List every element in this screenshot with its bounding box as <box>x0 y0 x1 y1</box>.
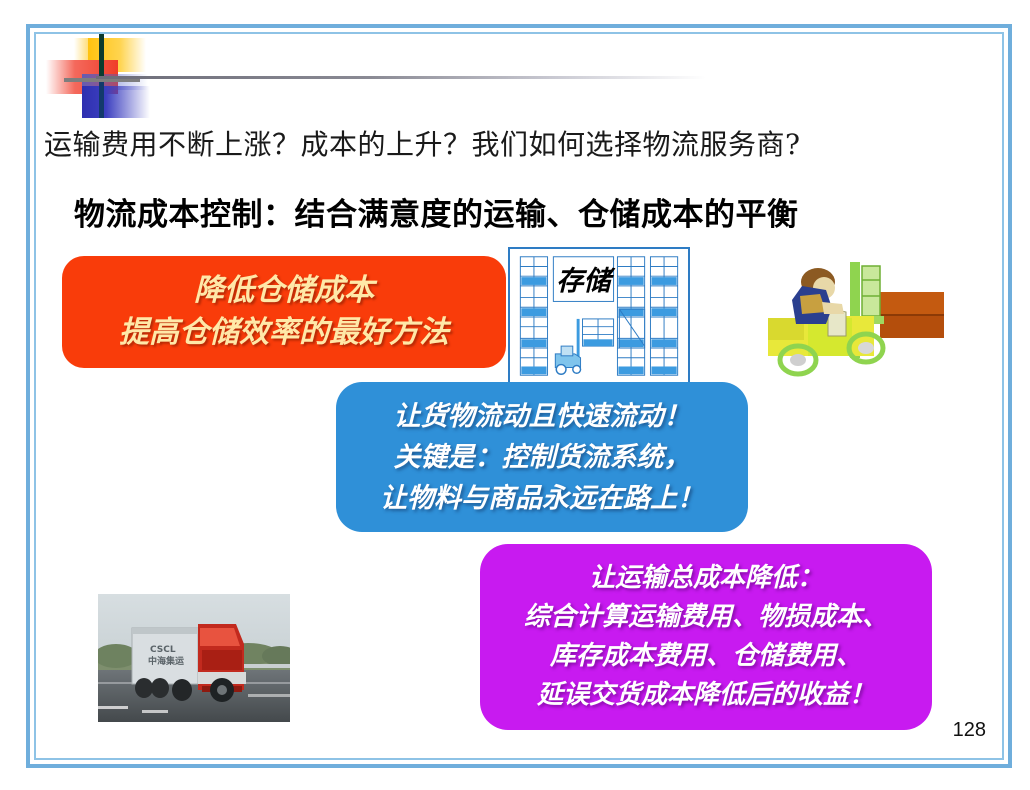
callout-magenta-line-3: 库存成本费用、仓储费用、 <box>550 637 862 676</box>
svg-text:中海集运: 中海集运 <box>148 655 185 667</box>
callout-orange: 降低仓储成本 提高仓储效率的最好方法 <box>62 256 506 368</box>
highway-truck-image: CSCL 中海集运 <box>98 594 290 722</box>
warehouse-racks-icon: 存储 <box>510 249 688 383</box>
warehouse-diagram: 存储 <box>508 247 690 385</box>
slide-title: 物流成本控制：结合满意度的运输、仓储成本的平衡 <box>74 194 974 236</box>
svg-text:CSCL: CSCL <box>150 645 176 655</box>
callout-orange-line-1: 降低仓储成本 <box>194 270 374 312</box>
warehouse-label: 存储 <box>556 265 615 297</box>
callout-blue: 让货物流动且快速流动！ 关键是：控制货流系统， 让物料与商品永远在路上！ <box>336 382 748 532</box>
header-divider-line <box>96 76 706 79</box>
callout-magenta: 让运输总成本降低： 综合计算运输费用、物损成本、 库存成本费用、仓储费用、 延误… <box>480 544 932 730</box>
slide-canvas: 运输费用不断上涨？成本的上升？我们如何选择物流服务商? 物流成本控制：结合满意度… <box>0 0 1030 790</box>
callout-magenta-line-2: 综合计算运输费用、物损成本、 <box>524 598 888 637</box>
callout-blue-line-1: 让货物流动且快速流动！ <box>394 396 691 437</box>
callout-magenta-line-1: 让运输总成本降低： <box>589 559 823 598</box>
page-number: 128 <box>953 719 986 742</box>
forklift-clipart-icon <box>762 256 958 382</box>
truck-photo: CSCL 中海集运 <box>98 594 290 722</box>
slide-subheading: 运输费用不断上涨？成本的上升？我们如何选择物流服务商? <box>44 126 944 164</box>
callout-blue-line-3: 让物料与商品永远在路上！ <box>380 478 704 519</box>
callout-blue-line-2: 关键是：控制货流系统， <box>394 437 691 478</box>
callout-orange-line-2: 提高仓储效率的最好方法 <box>119 312 449 354</box>
callout-magenta-line-4: 延误交货成本降低后的收益！ <box>537 676 875 715</box>
